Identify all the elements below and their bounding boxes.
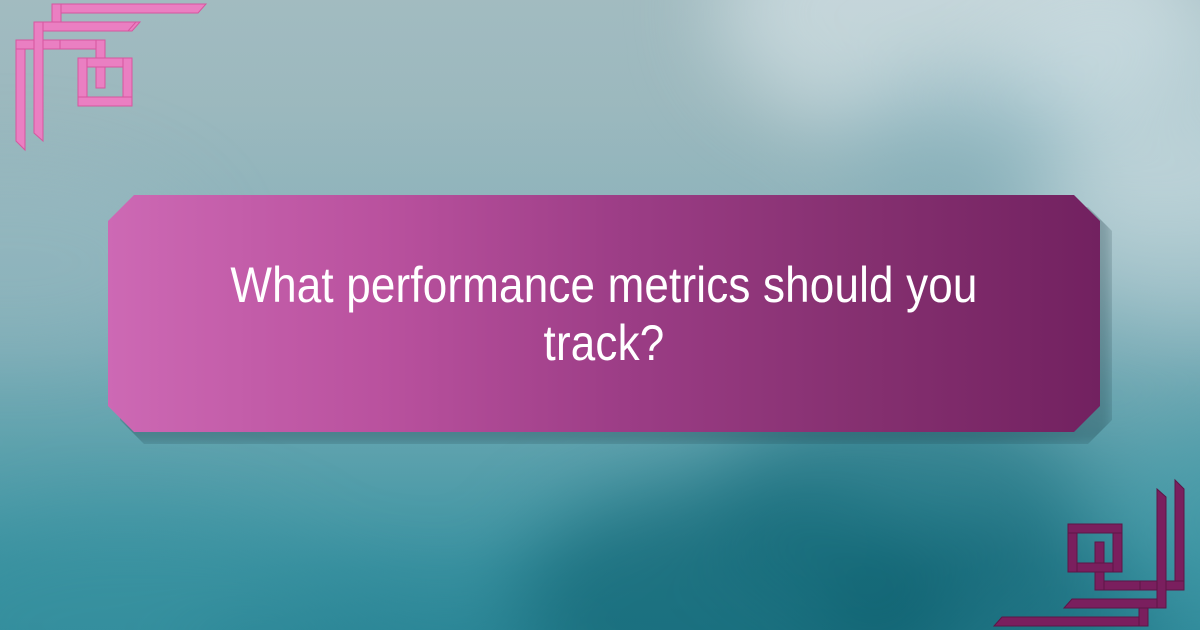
banner-panel: What performance metrics should you trac… [108,195,1100,432]
social-card: What performance metrics should you trac… [0,0,1200,630]
deco-bracket-bottom-right-icon [970,470,1200,630]
page-title: What performance metrics should you trac… [168,256,1041,372]
headline-banner: What performance metrics should you trac… [108,195,1100,432]
deco-bracket-top-left-icon [0,0,230,160]
